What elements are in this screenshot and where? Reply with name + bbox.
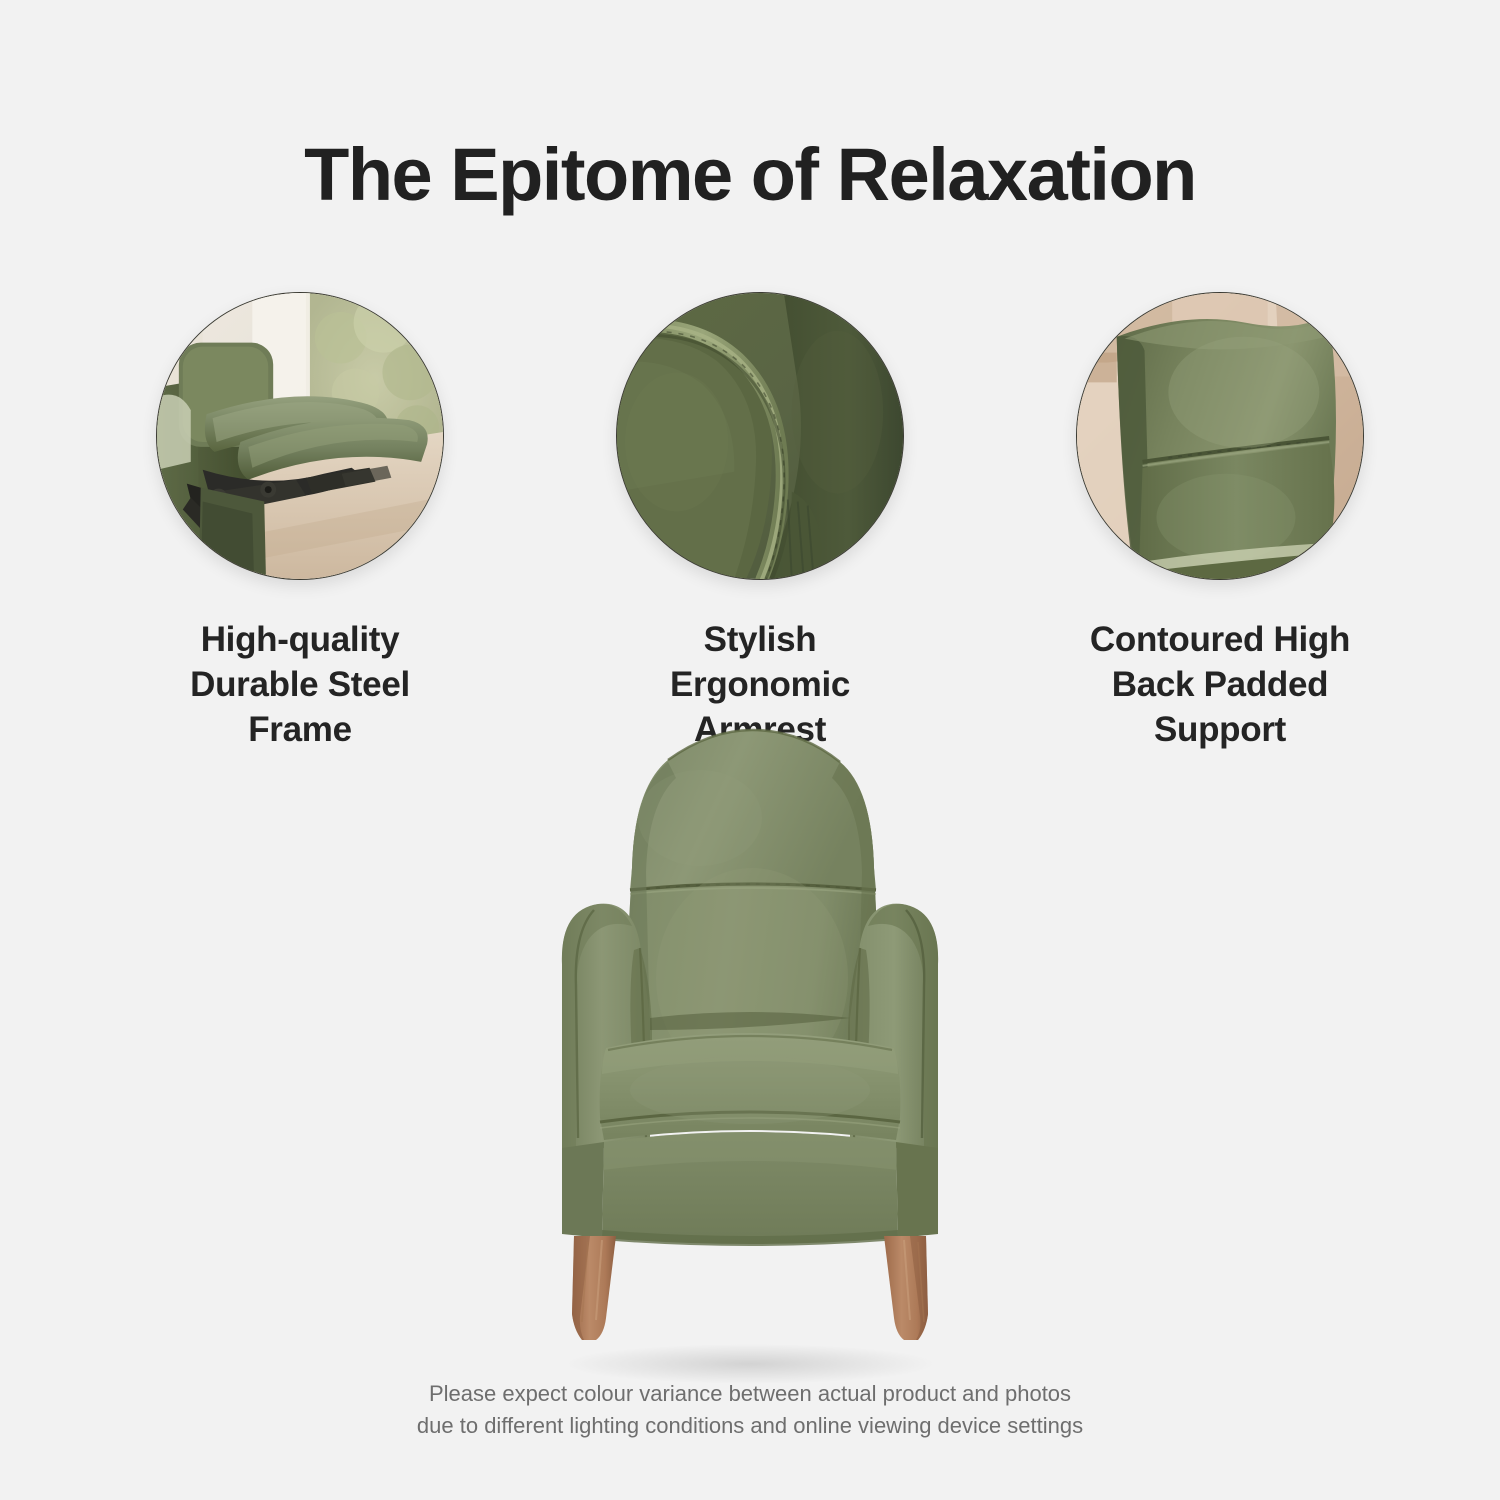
feature-item-ergonomic-armrest: Stylish Ergonomic Armrest [610,292,910,752]
page-title: The Epitome of Relaxation [0,136,1500,214]
feature-list: High-quality Durable Steel Frame [150,292,1370,752]
disclaimer-text: Please expect colour variance between ac… [0,1378,1500,1442]
feature-thumbnail-high-back-support [1076,292,1364,580]
high-back-cushion-photo [1077,293,1363,579]
feature-item-steel-frame: High-quality Durable Steel Frame [150,292,450,752]
footrest-mechanism-photo [157,293,443,579]
disclaimer-line1: Please expect colour variance between ac… [0,1378,1500,1410]
feature-label-high-back-support: Contoured High Back Padded Support [1070,618,1370,752]
armrest-closeup-photo [617,293,903,579]
feature-label-line1: Stylish Ergonomic [670,620,850,704]
recliner-armchair-illustration [500,718,1000,1390]
feature-thumbnail-steel-frame [156,292,444,580]
disclaimer-line2: due to different lighting conditions and… [0,1410,1500,1442]
hero-product-image [500,718,1000,1390]
feature-item-high-back-support: Contoured High Back Padded Support [1070,292,1370,752]
feature-thumbnail-ergonomic-armrest [616,292,904,580]
feature-label-steel-frame: High-quality Durable Steel Frame [150,618,450,752]
